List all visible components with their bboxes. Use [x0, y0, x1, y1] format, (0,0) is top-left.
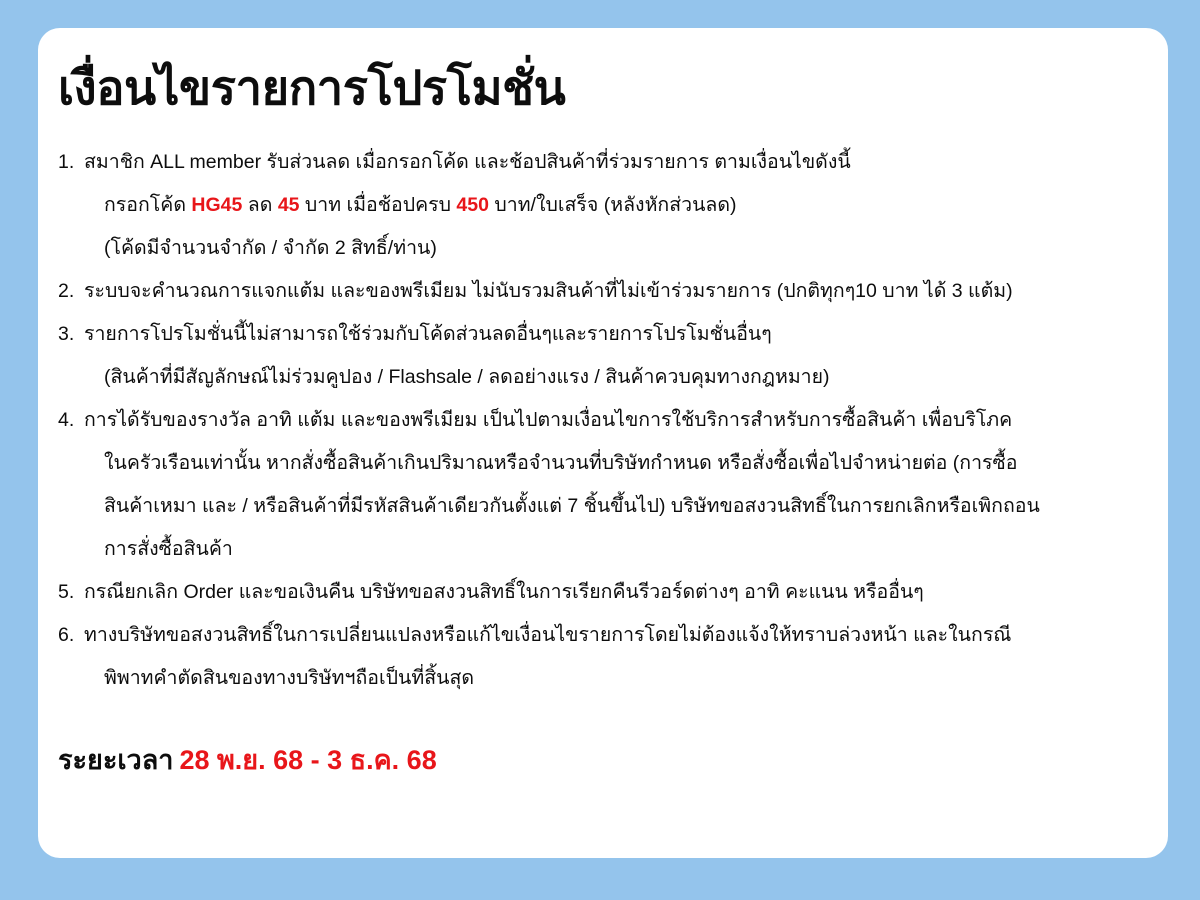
term-text: สมาชิก ALL member รับส่วนลด เมื่อกรอกโค้… [84, 151, 851, 173]
promotion-terms-page: เงื่อนไขรายการโปรโมชั่น 1.สมาชิก ALL mem… [0, 0, 1200, 900]
term-body: สมาชิก ALL member รับส่วนลด เมื่อกรอกโค้… [84, 141, 1142, 270]
term-text: สินค้าเหมา และ / หรือสินค้าที่มีรหัสสินค… [104, 495, 1040, 517]
term-text: บาท เมื่อช้อปครบ [300, 194, 457, 216]
term-text: ทางบริษัทขอสงวนสิทธิ์ในการเปลี่ยนแปลงหรื… [84, 624, 1011, 646]
term-text: (สินค้าที่มีสัญลักษณ์ไม่ร่วมคูปอง / Flas… [104, 366, 830, 388]
term-line: สมาชิก ALL member รับส่วนลด เมื่อกรอกโค้… [84, 141, 1142, 184]
term-text: การได้รับของรางวัล อาทิ แต้ม และของพรีเม… [84, 409, 1012, 431]
term-number: 1. [58, 141, 84, 184]
term-line: กรอกโค้ด HG45 ลด 45 บาท เมื่อช้อปครบ 450… [84, 184, 1142, 227]
term-line: สินค้าเหมา และ / หรือสินค้าที่มีรหัสสินค… [84, 485, 1142, 528]
terms-card: เงื่อนไขรายการโปรโมชั่น 1.สมาชิก ALL mem… [38, 28, 1168, 858]
term-line: ทางบริษัทขอสงวนสิทธิ์ในการเปลี่ยนแปลงหรื… [84, 614, 1142, 657]
term-number: 3. [58, 313, 84, 356]
term-text: กรอกโค้ด [104, 194, 191, 216]
term-text: ลด [242, 194, 277, 216]
term-number: 2. [58, 270, 84, 313]
term-number: 4. [58, 399, 84, 442]
term-text: บาท/ใบเสร็จ (หลังหักส่วนลด) [489, 194, 737, 216]
term-text: (โค้ดมีจำนวนจำกัด / จำกัด 2 สิทธิ์/ท่าน) [104, 237, 437, 259]
period-label: ระยะเวลา [58, 745, 173, 775]
term-text: การสั่งซื้อสินค้า [104, 538, 233, 560]
page-title: เงื่อนไขรายการโปรโมชั่น [58, 62, 1142, 115]
term-body: ระบบจะคำนวณการแจกแต้ม และของพรีเมียม ไม่… [84, 270, 1142, 313]
term-line: ระบบจะคำนวณการแจกแต้ม และของพรีเมียม ไม่… [84, 270, 1142, 313]
promotion-period: ระยะเวลา28 พ.ย. 68 - 3 ธ.ค. 68 [58, 744, 1142, 776]
term-item: 4.การได้รับของรางวัล อาทิ แต้ม และของพรี… [58, 399, 1142, 571]
term-line: รายการโปรโมชั่นนี้ไม่สามารถใช้ร่วมกับโค้… [84, 313, 1142, 356]
term-line: กรณียกเลิก Order และขอเงินคืน บริษัทขอสง… [84, 571, 1142, 614]
term-line: พิพาทคำตัดสินของทางบริษัทฯถือเป็นที่สิ้น… [84, 657, 1142, 700]
term-text: ในครัวเรือนเท่านั้น หากสั่งซื้อสินค้าเกิ… [104, 452, 1017, 474]
highlighted-value: 450 [456, 194, 489, 216]
term-body: ทางบริษัทขอสงวนสิทธิ์ในการเปลี่ยนแปลงหรื… [84, 614, 1142, 700]
term-item: 5.กรณียกเลิก Order และขอเงินคืน บริษัทขอ… [58, 571, 1142, 614]
term-item: 2.ระบบจะคำนวณการแจกแต้ม และของพรีเมียม ไ… [58, 270, 1142, 313]
period-dates: 28 พ.ย. 68 - 3 ธ.ค. 68 [179, 745, 436, 775]
highlighted-value: 45 [278, 194, 300, 216]
term-text: พิพาทคำตัดสินของทางบริษัทฯถือเป็นที่สิ้น… [104, 667, 474, 689]
highlighted-value: HG45 [191, 194, 242, 216]
term-body: กรณียกเลิก Order และขอเงินคืน บริษัทขอสง… [84, 571, 1142, 614]
term-body: การได้รับของรางวัล อาทิ แต้ม และของพรีเม… [84, 399, 1142, 571]
term-line: ในครัวเรือนเท่านั้น หากสั่งซื้อสินค้าเกิ… [84, 442, 1142, 485]
term-line: (สินค้าที่มีสัญลักษณ์ไม่ร่วมคูปอง / Flas… [84, 356, 1142, 399]
term-text: กรณียกเลิก Order และขอเงินคืน บริษัทขอสง… [84, 581, 924, 603]
term-line: การสั่งซื้อสินค้า [84, 528, 1142, 571]
term-line: (โค้ดมีจำนวนจำกัด / จำกัด 2 สิทธิ์/ท่าน) [84, 227, 1142, 270]
term-number: 6. [58, 614, 84, 657]
term-item: 6.ทางบริษัทขอสงวนสิทธิ์ในการเปลี่ยนแปลงห… [58, 614, 1142, 700]
term-item: 3.รายการโปรโมชั่นนี้ไม่สามารถใช้ร่วมกับโ… [58, 313, 1142, 399]
terms-list: 1.สมาชิก ALL member รับส่วนลด เมื่อกรอกโ… [58, 141, 1142, 700]
term-text: ระบบจะคำนวณการแจกแต้ม และของพรีเมียม ไม่… [84, 280, 1013, 302]
term-line: การได้รับของรางวัล อาทิ แต้ม และของพรีเม… [84, 399, 1142, 442]
term-number: 5. [58, 571, 84, 614]
term-text: รายการโปรโมชั่นนี้ไม่สามารถใช้ร่วมกับโค้… [84, 323, 772, 345]
term-body: รายการโปรโมชั่นนี้ไม่สามารถใช้ร่วมกับโค้… [84, 313, 1142, 399]
term-item: 1.สมาชิก ALL member รับส่วนลด เมื่อกรอกโ… [58, 141, 1142, 270]
